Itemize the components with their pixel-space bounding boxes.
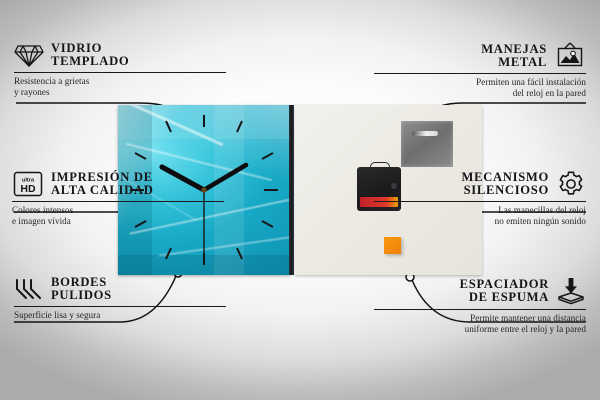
feature-desc-line2: del reloj en la pared: [374, 88, 586, 99]
divider: [374, 309, 586, 310]
feature-title-line1: BORDES: [51, 276, 112, 289]
divider: [12, 201, 224, 202]
divider: [14, 72, 226, 73]
feature-title-line1: IMPRESIÓN DE: [51, 171, 154, 184]
feature-title-line1: MECANISMO: [462, 171, 549, 184]
feature-title-line2: TEMPLADO: [51, 55, 129, 68]
feature-polished-edges: BORDES PULIDOS Superficie lisa y segura: [14, 276, 226, 321]
feature-high-quality-print: ultra HD IMPRESIÓN DE ALTA CALIDAD Color…: [12, 170, 224, 227]
polished-edges-icon: [14, 276, 44, 302]
feature-desc-line1: Superficie lisa y segura: [14, 310, 226, 321]
ultra-hd-icon: ultra HD: [12, 170, 44, 198]
feature-metal-handles: MANEJAS METAL Permiten una fácil instala…: [374, 42, 586, 99]
gear-icon: [556, 170, 586, 198]
feature-desc-line2: uniforme entre el reloj y la pared: [374, 324, 586, 335]
feature-title-line1: VIDRIO: [51, 42, 129, 55]
hd-label: HD: [20, 183, 36, 195]
feature-desc-line1: Permiten una fácil instalación: [374, 77, 586, 88]
feature-title-line2: METAL: [481, 56, 547, 69]
feature-desc-line1: Permite mantener una distancia: [374, 313, 586, 324]
divider: [374, 201, 586, 202]
infographic-canvas: VIDRIO TEMPLADO Resistencia a grietas y …: [0, 0, 600, 400]
divider: [14, 306, 226, 307]
feature-desc-line1: Las manecillas del reloj: [374, 205, 586, 216]
feature-title-line1: MANEJAS: [481, 43, 547, 56]
feature-tempered-glass: VIDRIO TEMPLADO Resistencia a grietas y …: [14, 42, 226, 98]
feature-foam-spacer: ESPACIADOR DE ESPUMA Permite mantener un…: [374, 276, 586, 335]
diamond-icon: [14, 42, 44, 68]
feature-title-line2: DE ESPUMA: [460, 291, 549, 304]
glass-edge: [289, 105, 294, 275]
feature-desc-line1: Resistencia a grietas: [14, 76, 226, 87]
feature-title-line2: PULIDOS: [51, 289, 112, 302]
feature-desc-line1: Colores intensos: [12, 205, 224, 216]
picture-frame-icon: [554, 42, 586, 70]
divider: [374, 73, 586, 74]
feature-desc-line2: e imagen vívida: [12, 216, 224, 227]
feature-silent-mechanism: MECANISMO SILENCIOSO Las manecillas del …: [374, 170, 586, 227]
feature-desc-line2: no emiten ningún sonido: [374, 216, 586, 227]
feature-title-line1: ESPACIADOR: [460, 278, 549, 291]
arrow-down-pad-icon: [556, 276, 586, 306]
feature-title-line2: ALTA CALIDAD: [51, 184, 154, 197]
feature-desc-line2: y rayones: [14, 87, 226, 98]
metal-hanger-plate: [401, 121, 453, 167]
foam-spacer-square: [384, 237, 401, 254]
feature-title-line2: SILENCIOSO: [462, 184, 549, 197]
